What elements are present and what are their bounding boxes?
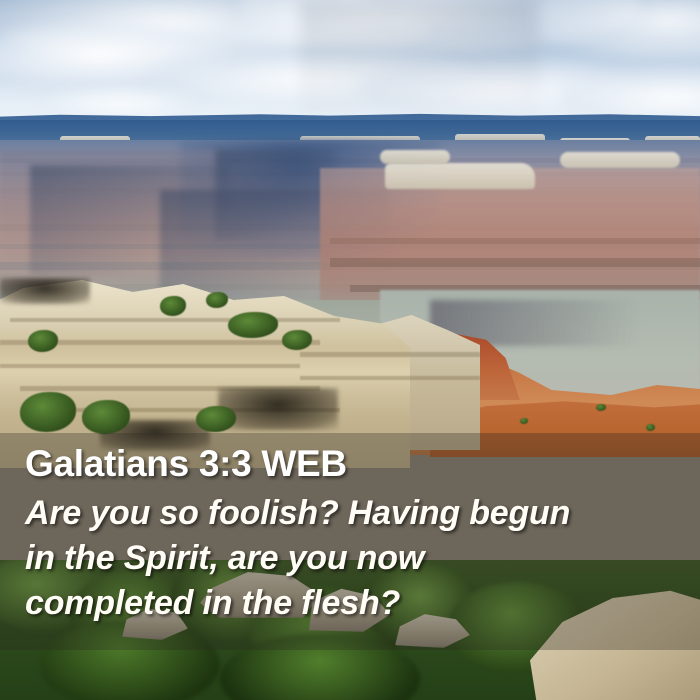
rain-shaft: [300, 0, 540, 124]
dark-strata-band: [330, 238, 700, 244]
white-caprock: [560, 152, 680, 168]
verse-line: in the Spirit, are you now: [25, 536, 685, 581]
dark-strata-band: [330, 258, 700, 267]
sky-region: [0, 0, 700, 124]
white-caprock: [385, 163, 535, 189]
cliff-crevice: [0, 278, 90, 304]
verse-body: Are you so foolish? Having begun in the …: [25, 491, 685, 626]
verse-line: Are you so foolish? Having begun: [25, 491, 685, 536]
white-caprock: [380, 150, 450, 164]
verse-reference: Galatians 3:3 WEB: [25, 444, 347, 484]
verse-line: completed in the flesh?: [25, 581, 685, 626]
verse-text-block: Galatians 3:3 WEB Are you so foolish? Ha…: [0, 433, 700, 650]
verse-image-card: Galatians 3:3 WEB Are you so foolish? Ha…: [0, 0, 700, 700]
cloud-icon: [520, 0, 700, 58]
cliff-crevice: [218, 388, 338, 430]
cliff-shadow: [215, 150, 335, 240]
